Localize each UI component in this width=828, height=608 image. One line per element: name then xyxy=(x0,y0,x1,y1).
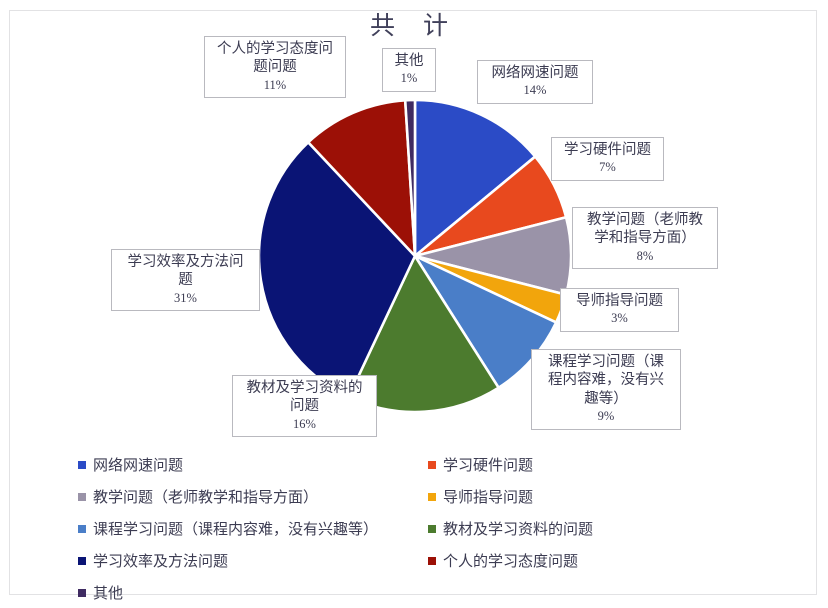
data-label-percent: 8% xyxy=(578,249,712,265)
data-label-text: 其他 xyxy=(395,53,424,69)
data-label-text: 导师指导问题 xyxy=(576,293,663,309)
label-xiaolv: 学习效率及方法问题31% xyxy=(111,249,260,311)
data-label-text: 个人的学习态度问题问题 xyxy=(217,41,333,75)
data-label-percent: 9% xyxy=(537,409,675,425)
data-label-percent: 31% xyxy=(117,291,254,307)
legend-label: 导师指导问题 xyxy=(443,486,533,507)
legend-item[interactable]: 导师指导问题 xyxy=(428,486,533,507)
legend-label: 网络网速问题 xyxy=(93,454,183,475)
label-daoshi: 导师指导问题3% xyxy=(560,288,679,332)
legend-label: 学习硬件问题 xyxy=(443,454,533,475)
label-wangluo: 网络网速问题14% xyxy=(477,60,593,104)
legend-label: 教材及学习资料的问题 xyxy=(443,518,593,539)
data-label-text: 学习效率及方法问题 xyxy=(128,254,244,288)
legend-item[interactable]: 课程学习问题（课程内容难，没有兴趣等） xyxy=(78,518,378,539)
legend-item[interactable]: 教材及学习资料的问题 xyxy=(428,518,593,539)
legend-item[interactable]: 个人的学习态度问题 xyxy=(428,550,578,571)
data-label-percent: 1% xyxy=(388,71,430,87)
chart-screenshot: 共 计 网络网速问题 14%学习硬件问题 7%教学问题（老师教学和指导方面） 8… xyxy=(0,0,828,608)
data-label-percent: 3% xyxy=(566,311,673,327)
legend-swatch-icon xyxy=(78,589,86,597)
legend-label: 教学问题（老师教学和指导方面） xyxy=(93,486,318,507)
data-label-text: 课程学习问题（课程内容难，没有兴趣等） xyxy=(548,354,664,407)
data-label-text: 网络网速问题 xyxy=(492,65,579,81)
legend-swatch-icon xyxy=(78,461,86,469)
data-label-percent: 11% xyxy=(210,78,340,94)
label-qita: 其他1% xyxy=(382,48,436,92)
legend-label: 课程学习问题（课程内容难，没有兴趣等） xyxy=(93,518,378,539)
legend-item[interactable]: 教学问题（老师教学和指导方面） xyxy=(78,486,318,507)
data-label-percent: 16% xyxy=(238,417,371,433)
legend-swatch-icon xyxy=(78,557,86,565)
legend-item[interactable]: 网络网速问题 xyxy=(78,454,183,475)
legend-label: 个人的学习态度问题 xyxy=(443,550,578,571)
data-label-percent: 14% xyxy=(483,83,587,99)
chart-legend: 网络网速问题学习硬件问题教学问题（老师教学和指导方面）导师指导问题课程学习问题（… xyxy=(78,450,778,590)
label-yingjian: 学习硬件问题7% xyxy=(551,137,664,181)
legend-item[interactable]: 学习硬件问题 xyxy=(428,454,533,475)
legend-swatch-icon xyxy=(428,525,436,533)
label-gerende: 个人的学习态度问题问题11% xyxy=(204,36,346,98)
legend-swatch-icon xyxy=(428,493,436,501)
label-jiaocai: 教材及学习资料的问题16% xyxy=(232,375,377,437)
data-label-text: 学习硬件问题 xyxy=(564,142,651,158)
legend-swatch-icon xyxy=(78,493,86,501)
label-jiaoxue: 教学问题（老师教学和指导方面）8% xyxy=(572,207,718,269)
legend-item[interactable]: 其他 xyxy=(78,582,123,603)
data-label-percent: 7% xyxy=(557,160,658,176)
data-label-text: 教材及学习资料的问题 xyxy=(247,380,363,414)
legend-item[interactable]: 学习效率及方法问题 xyxy=(78,550,228,571)
legend-swatch-icon xyxy=(428,461,436,469)
legend-label: 学习效率及方法问题 xyxy=(93,550,228,571)
data-label-text: 教学问题（老师教学和指导方面） xyxy=(587,212,703,246)
legend-swatch-icon xyxy=(78,525,86,533)
legend-swatch-icon xyxy=(428,557,436,565)
legend-label: 其他 xyxy=(93,582,123,603)
label-kecheng: 课程学习问题（课程内容难，没有兴趣等）9% xyxy=(531,349,681,430)
